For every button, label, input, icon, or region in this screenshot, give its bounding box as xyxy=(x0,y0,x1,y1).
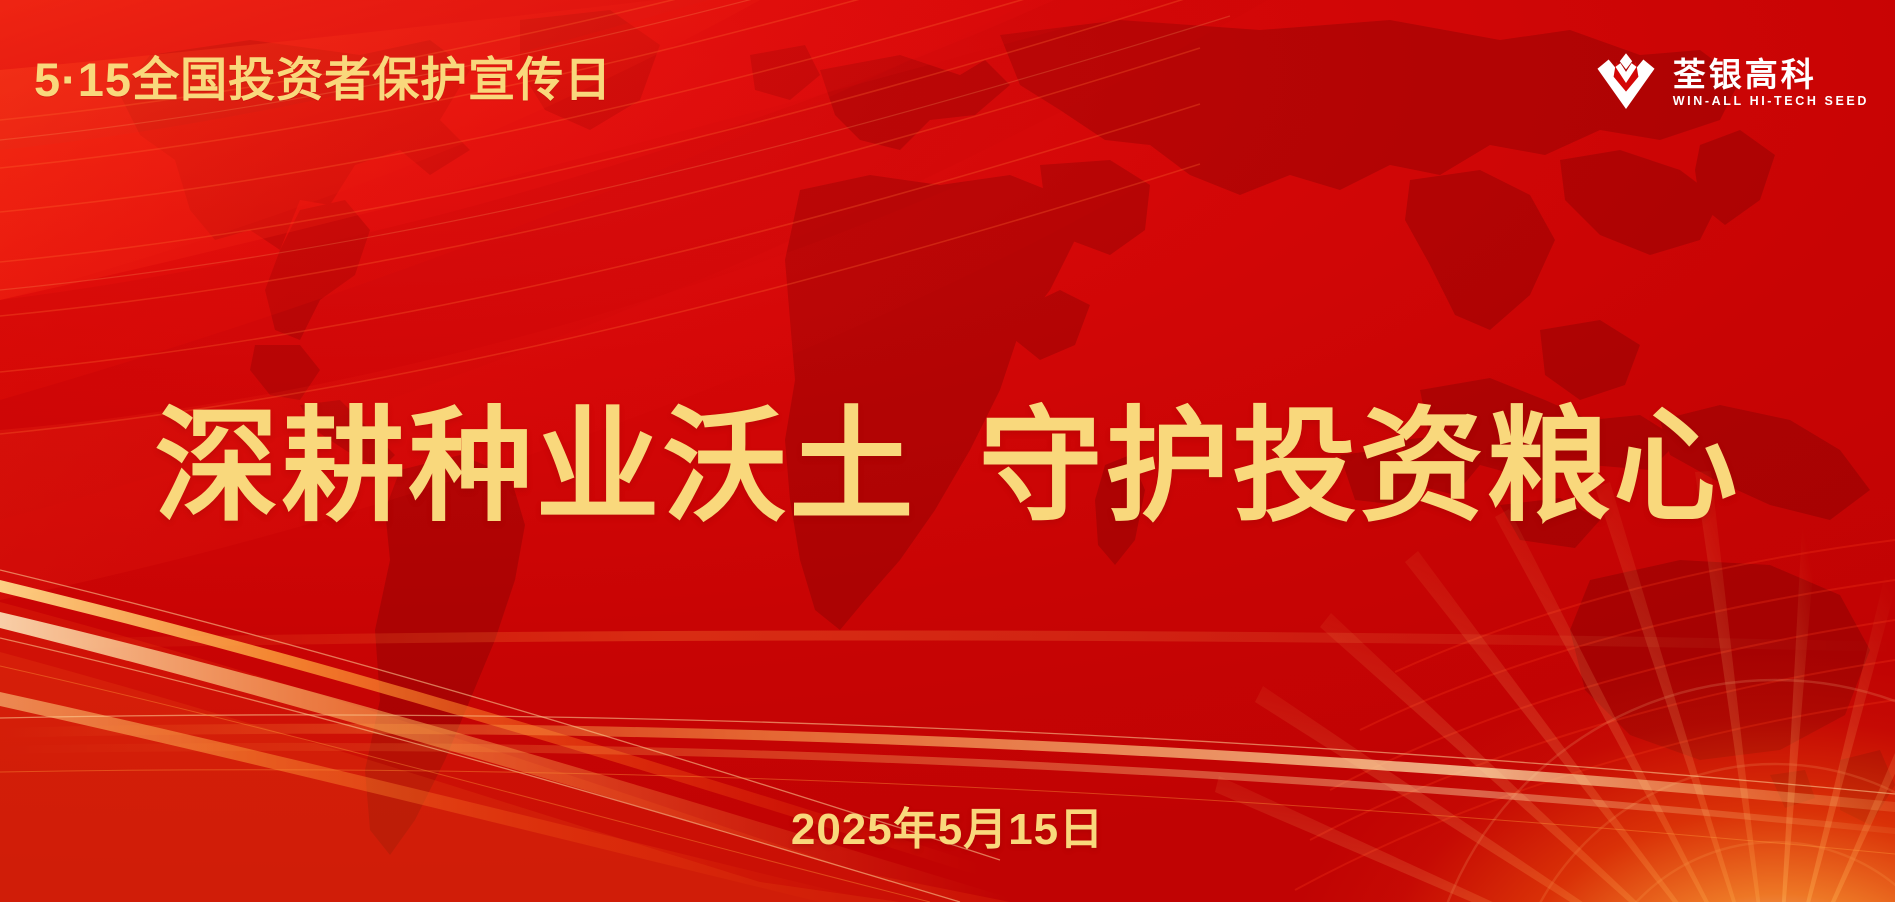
investor-protection-banner: 5·15全国投资者保护宣传日 荃银高科 WIN-ALL HI-TECH SEED xyxy=(0,0,1895,902)
main-slogan: 深耕种业沃土守护投资粮心 xyxy=(0,398,1895,537)
logo-wordmark: 荃银高科 WIN-ALL HI-TECH SEED xyxy=(1673,58,1869,108)
logo-name-cn: 荃银高科 xyxy=(1673,58,1869,91)
slogan-part-1: 深耕种业沃土 xyxy=(154,398,916,537)
campaign-eyebrow-title: 5·15全国投资者保护宣传日 xyxy=(34,56,612,103)
slogan-part-2: 守护投资粮心 xyxy=(979,398,1741,537)
logo-name-en: WIN-ALL HI-TECH SEED xyxy=(1673,95,1869,108)
company-logo[interactable]: 荃银高科 WIN-ALL HI-TECH SEED xyxy=(1595,52,1869,114)
event-date: 2025年5月15日 xyxy=(0,808,1895,852)
seedling-chevron-icon xyxy=(1595,52,1657,114)
